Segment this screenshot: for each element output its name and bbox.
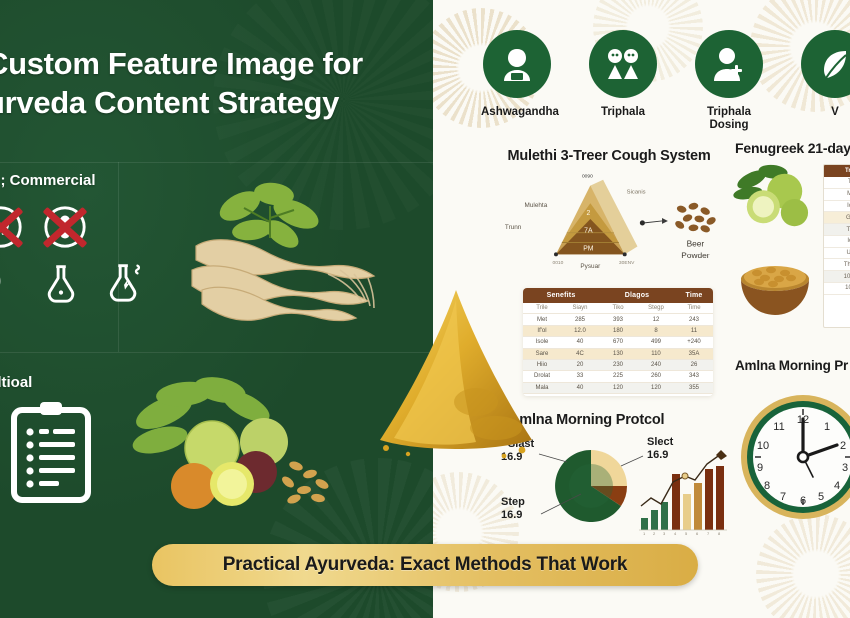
svg-text:0010: 0010	[553, 260, 564, 266]
table-cell: 243	[675, 314, 713, 325]
metrics-table: Senefits Dlagos Time TrileSiaynTikoStegp…	[523, 288, 713, 394]
table-cell: 230	[599, 359, 637, 370]
title-line-1: Custom Feature Image for	[0, 44, 426, 83]
table-cell: 355	[675, 382, 713, 393]
woman-portrait-icon	[483, 30, 551, 98]
table-cell: 343	[675, 371, 713, 382]
clock-card-title: Amlna Morning Pr	[733, 358, 850, 373]
table-column-header: Stegp	[637, 303, 675, 314]
svg-text:7: 7	[780, 491, 786, 503]
table-group-header: Time	[675, 288, 713, 303]
table-cell: 120	[637, 382, 675, 393]
list-item: Iclo	[824, 236, 850, 248]
pyramid-chart: 2 7A PM Mulehta Trunn Sicanis 0090 0010 …	[495, 164, 723, 272]
svg-text:Mulehta: Mulehta	[525, 202, 548, 209]
left-panel: Custom Feature Image for urveda Content …	[0, 0, 433, 618]
table-row: Met28539312243	[523, 314, 713, 325]
herb-item-triphala-dosing[interactable]: Triphala Dosing	[693, 30, 765, 132]
list-item: 10.-5	[824, 283, 850, 295]
flask-icon-row	[0, 258, 148, 304]
table-column-header: Time	[675, 303, 713, 314]
svg-text:2: 2	[653, 531, 656, 536]
table-cell: 499	[637, 337, 675, 348]
svg-text:Pysuar: Pysuar	[580, 263, 601, 270]
svg-text:30ENV: 30ENV	[619, 260, 635, 266]
list-item: Uttn	[824, 248, 850, 260]
svg-text:10: 10	[757, 440, 769, 452]
table-cell: 40	[561, 337, 599, 348]
table-cell: 20	[561, 359, 599, 370]
fenugreek-card: Fenugreek 21-day	[733, 140, 850, 355]
svg-text:Sicanis: Sicanis	[627, 189, 646, 195]
table-cell: 130	[599, 348, 637, 359]
svg-text:Beer: Beer	[687, 238, 705, 248]
table-row: If'ol12.0180811	[523, 325, 713, 336]
fenugreek-seed-bowl-photo	[733, 245, 817, 323]
svg-text:3: 3	[842, 462, 848, 474]
divider	[0, 162, 433, 163]
table-cell: 260	[637, 371, 675, 382]
list-item: 108ou	[824, 271, 850, 283]
herb-label: Triphala Dosing	[693, 106, 765, 132]
doctor-icon	[695, 30, 763, 98]
svg-text:9: 9	[757, 462, 763, 474]
svg-text:2: 2	[586, 210, 590, 217]
banner-text: Practical Ayurveda: Exact Methods That W…	[223, 554, 628, 576]
table-row: Drolat33225260343	[523, 371, 713, 382]
two-children-icon	[589, 30, 657, 98]
partial-circle-icon	[0, 258, 20, 304]
table-cell: 670	[599, 337, 637, 348]
table-group-header: Dlagos	[599, 288, 675, 303]
svg-text:3: 3	[663, 531, 666, 536]
list-item: Gurr	[824, 212, 850, 224]
table-cell: 180	[599, 325, 637, 336]
svg-text:Trunn: Trunn	[505, 224, 522, 231]
crossed-icon-row	[0, 204, 88, 250]
flask-steam-icon	[102, 258, 148, 304]
no-chemicals-icon	[0, 204, 24, 250]
fenugreek-card-title: Fenugreek 21-day	[733, 140, 850, 156]
traditional-label: adtioal	[0, 374, 32, 391]
table-cell: 12	[637, 314, 675, 325]
svg-text:2: 2	[840, 440, 846, 452]
table-column-header-row: TrileSiaynTikoStegpTime	[523, 303, 713, 314]
table-cell: +240	[675, 337, 713, 348]
svg-text:1: 1	[824, 421, 830, 433]
list-item: Mal	[824, 189, 850, 201]
list-header: Trice	[824, 165, 850, 177]
leaf-icon	[801, 30, 850, 98]
svg-text:4: 4	[834, 480, 840, 492]
table-row: Hiio2023024026	[523, 359, 713, 370]
divider	[0, 352, 433, 353]
svg-text:5: 5	[818, 491, 824, 503]
svg-text:PM: PM	[583, 245, 594, 252]
flask-plain-icon	[38, 258, 84, 304]
fenugreek-schedule-list: Trice TibMalIolaGurrTizdIcloUttnThocz108…	[823, 164, 850, 328]
svg-text:Powder: Powder	[681, 250, 709, 260]
table-group-header-row: Senefits Dlagos Time	[523, 288, 713, 303]
table-cell: 225	[599, 371, 637, 382]
table-cell: 8	[637, 325, 675, 336]
svg-text:5: 5	[685, 531, 688, 536]
table-cell: 11	[675, 325, 713, 336]
table-cell: 33	[561, 371, 599, 382]
bottom-banner[interactable]: Practical Ayurveda: Exact Methods That W…	[152, 544, 698, 586]
clipboard-checklist-icon	[8, 400, 94, 504]
svg-text:6: 6	[800, 495, 806, 507]
title-line-2: urveda Content Strategy	[0, 83, 426, 122]
feature-image-canvas: Custom Feature Image for urveda Content …	[0, 0, 850, 618]
svg-text:7A: 7A	[584, 228, 593, 235]
herb-item-v[interactable]: V	[799, 30, 850, 119]
svg-text:8: 8	[718, 531, 721, 536]
svg-text:4: 4	[674, 531, 677, 536]
table-row: Mala40120120355	[523, 382, 713, 393]
list-item: Iola	[824, 201, 850, 213]
herb-label: Ashwagandha	[481, 106, 553, 119]
svg-text:6: 6	[696, 531, 699, 536]
analog-clock-icon: 1212 345 678 91011	[733, 379, 850, 529]
table-cell: 4C	[561, 348, 599, 359]
herb-item-ashwagandha[interactable]: Ashwagandha	[481, 30, 553, 119]
svg-text:11: 11	[773, 421, 784, 433]
pyramid-chart-card: Mulethi 3-Treer Cough System 2 7A PM Mul…	[495, 140, 723, 282]
turmeric-powder-photo	[372, 282, 540, 460]
svg-text:7: 7	[707, 531, 710, 536]
table-cell: 40	[561, 382, 599, 393]
table-cell: 110	[637, 348, 675, 359]
table-cell: 35A	[675, 348, 713, 359]
pyramid-card-title: Mulethi 3-Treer Cough System	[495, 140, 723, 164]
table-cell: 285	[561, 314, 599, 325]
amla-berries-photo	[128, 368, 338, 510]
no-capsule-icon	[42, 204, 88, 250]
metrics-table-card: Senefits Dlagos Time TrileSiaynTikoStegp…	[523, 288, 713, 396]
herb-label: Triphala	[587, 106, 659, 119]
herb-item-triphala[interactable]: Triphala	[587, 30, 659, 119]
list-item: Tizd	[824, 224, 850, 236]
table-row: Sare4C13011035A	[523, 348, 713, 359]
table-body: TrileSiaynTikoStegpTimeMet28539312243If'…	[523, 303, 713, 394]
table-cell: 120	[599, 382, 637, 393]
herb-icon-row: Ashwagandha Triphala	[481, 30, 850, 132]
guava-fruit-photo	[733, 164, 817, 234]
svg-text:0090: 0090	[582, 174, 593, 180]
list-item: Thocz	[824, 259, 850, 271]
table-column-header: Tiko	[599, 303, 637, 314]
list-item: Tib	[824, 177, 850, 189]
divider	[118, 162, 119, 352]
clock-card: Amlna Morning Pr 1212 345 678 91011	[733, 358, 850, 540]
table-cell: 26	[675, 359, 713, 370]
herb-label: V	[799, 106, 850, 119]
svg-text:8: 8	[764, 480, 770, 492]
table-cell: 393	[599, 314, 637, 325]
svg-text:1: 1	[643, 531, 646, 536]
table-row: Isole40670499+240	[523, 337, 713, 348]
commercial-label: s ; Commercial	[0, 172, 96, 189]
page-title: Custom Feature Image for urveda Content …	[0, 44, 426, 122]
table-column-header: Siayn	[561, 303, 599, 314]
table-cell: 240	[637, 359, 675, 370]
table-cell: 12.0	[561, 325, 599, 336]
